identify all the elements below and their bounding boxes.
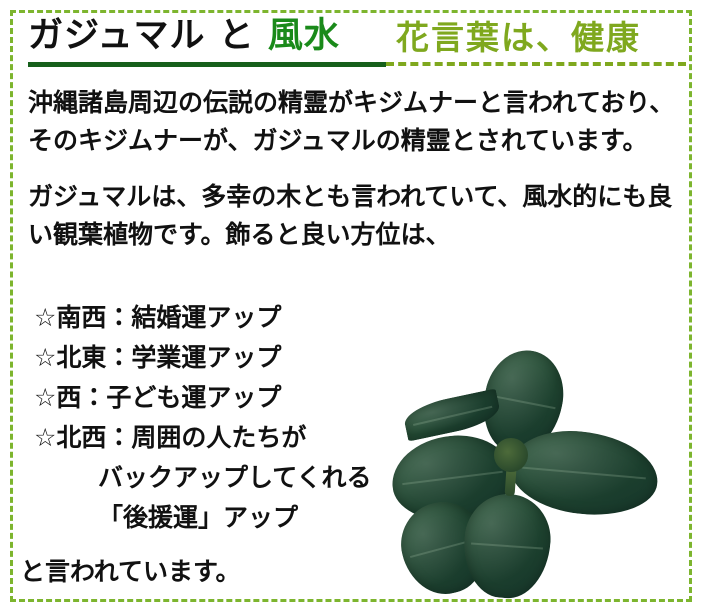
header: ガジュマル と 風水 花言葉は、健康 bbox=[0, 14, 702, 76]
closing-sentence: と言われています。 bbox=[20, 553, 241, 591]
gajumaru-plant-photo bbox=[398, 350, 698, 600]
page-title-green-part: 風水 bbox=[268, 16, 340, 56]
plant-stem-node bbox=[494, 438, 528, 472]
body-text: 沖縄諸島周辺の伝説の精霊がキジムナーと言われており、そのキジムナーが、ガジュマル… bbox=[28, 84, 676, 270]
leaf-icon bbox=[402, 388, 503, 441]
page-root: ガジュマル と 風水 花言葉は、健康 沖縄諸島周辺の伝説の精霊がキジムナーと言わ… bbox=[0, 0, 702, 613]
paragraph-2: ガジュマルは、多幸の木とも言われていて、風水的にも良い観葉植物です。飾ると良い方… bbox=[28, 178, 676, 254]
page-title-black-part: ガジュマル と bbox=[28, 16, 268, 56]
subtitle: 花言葉は、健康 bbox=[396, 16, 641, 60]
paragraph-1: 沖縄諸島周辺の伝説の精霊がキジムナーと言われており、そのキジムナーが、ガジュマル… bbox=[28, 84, 676, 160]
list-item: ☆南西：結婚運アップ bbox=[34, 298, 674, 338]
subtitle-dashed-underline bbox=[386, 62, 686, 66]
page-title-underline bbox=[28, 62, 386, 67]
page-title: ガジュマル と 風水 bbox=[28, 14, 340, 58]
